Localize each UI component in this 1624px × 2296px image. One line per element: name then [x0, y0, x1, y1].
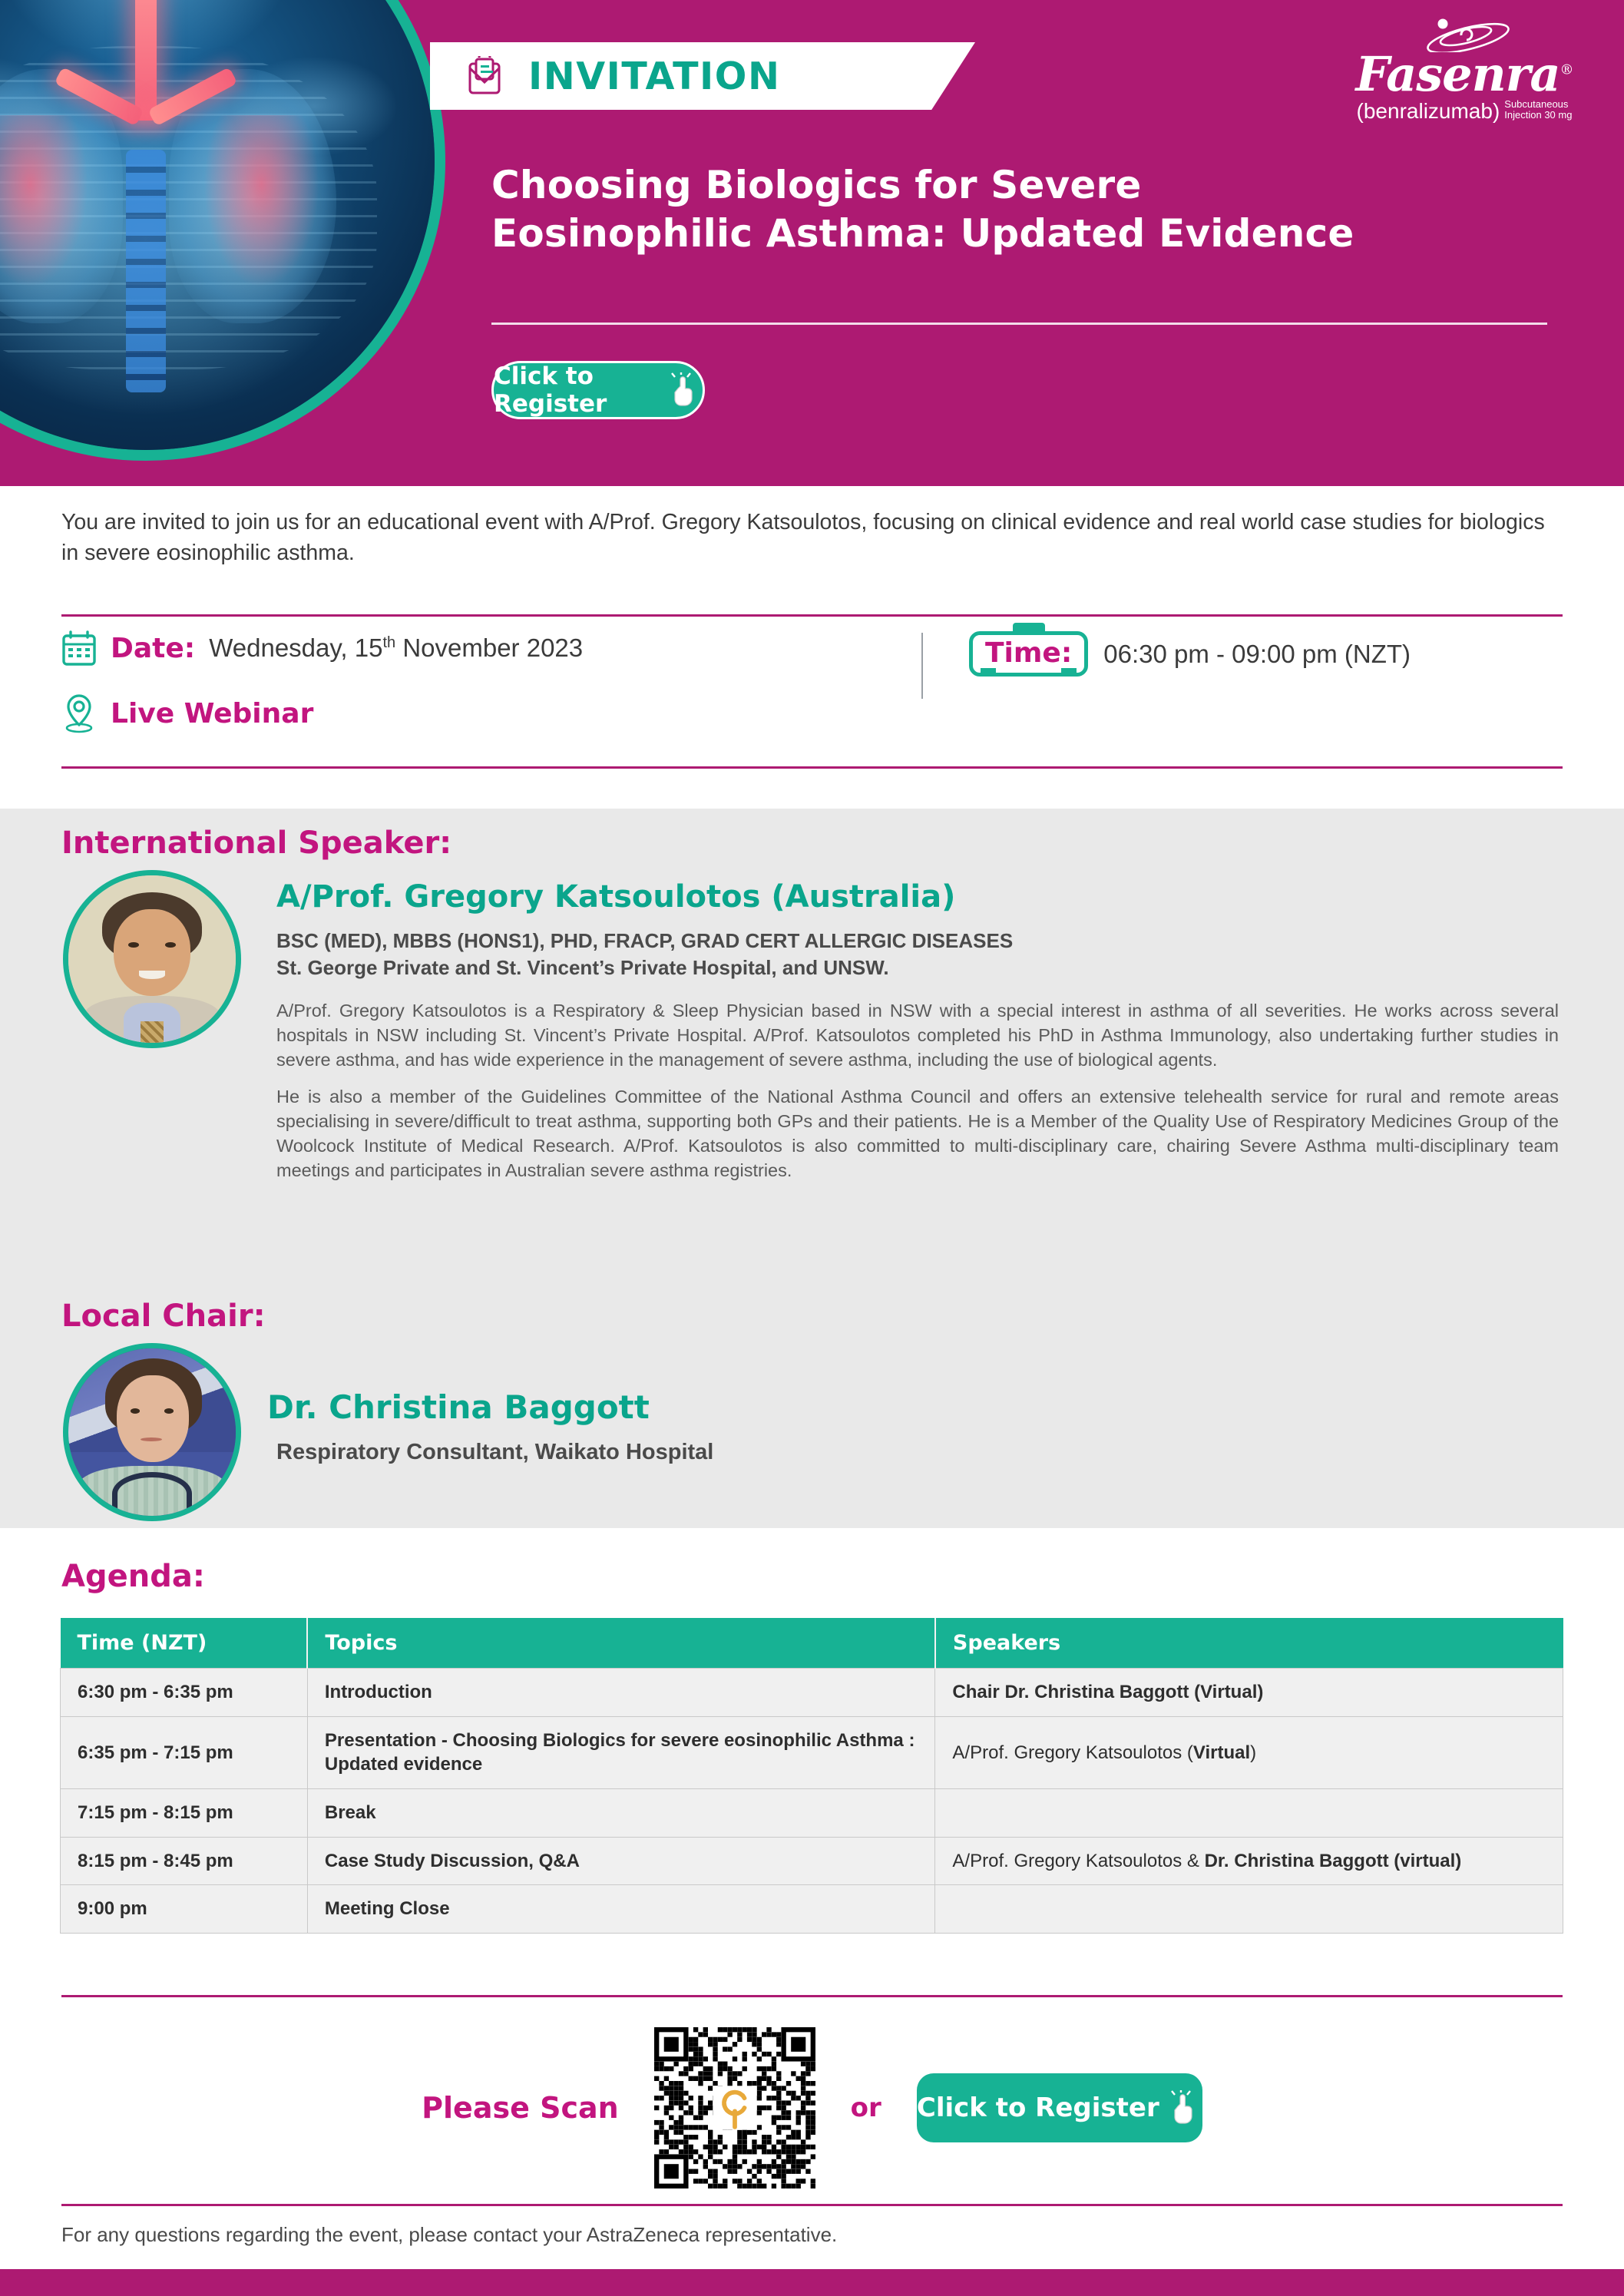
divider-bottom	[61, 766, 1563, 769]
page-title: Choosing Biologics for Severe Eosinophil…	[491, 161, 1559, 258]
international-speaker-heading: International Speaker:	[61, 825, 451, 861]
cell-speaker: A/Prof. Gregory Katsoulotos & Dr. Christ…	[935, 1837, 1563, 1885]
invitation-flyer: INVITATION Fasenra® (benralizumab) Subcu…	[0, 0, 1624, 2296]
speaker-credentials: BSC (MED), MBBS (HONS1), PHD, FRACP, GRA…	[276, 928, 1013, 981]
qr-code[interactable]	[654, 2027, 815, 2188]
time-label: Time:	[985, 637, 1072, 669]
invitation-ribbon: INVITATION	[430, 42, 975, 110]
click-hand-icon	[1170, 2090, 1202, 2126]
date-label: Date:	[111, 633, 195, 664]
cell-speaker: Chair Dr. Christina Baggott (Virtual)	[935, 1669, 1563, 1717]
table-row: 9:00 pm Meeting Close	[61, 1885, 1563, 1934]
register-button-top-label: Click to Register	[494, 362, 663, 418]
cell-topic: Break	[307, 1789, 935, 1838]
time-value: 06:30 pm - 09:00 pm (NZT)	[1103, 640, 1411, 669]
registration-row: Please Scan or Click to Register	[61, 2020, 1563, 2196]
speaker-bio: A/Prof. Gregory Katsoulotos is a Respira…	[276, 999, 1559, 1183]
respiratory-system-illustration	[0, 0, 445, 461]
details-divider	[921, 633, 923, 699]
divider-top	[61, 614, 1563, 617]
title-divider	[491, 323, 1547, 325]
table-row: 6:30 pm - 6:35 pm Introduction Chair Dr.…	[61, 1669, 1563, 1717]
cell-speaker	[935, 1885, 1563, 1934]
invitation-label: INVITATION	[528, 55, 780, 98]
date-value: Wednesday, 15th November 2023	[209, 634, 583, 663]
fasenra-generic-name: (benralizumab)	[1357, 99, 1500, 124]
divider-scan-top	[61, 1995, 1563, 1997]
divider-footer	[61, 2204, 1563, 2206]
chair-role: Respiratory Consultant, Waikato Hospital	[276, 1440, 713, 1465]
register-button-top[interactable]: Click to Register	[491, 361, 705, 419]
cell-time: 7:15 pm - 8:15 pm	[61, 1789, 308, 1838]
speaker-name: A/Prof. Gregory Katsoulotos (Australia)	[276, 879, 955, 915]
chair-name: Dr. Christina Baggott	[267, 1388, 650, 1426]
event-details: Date: Wednesday, 15th November 2023 Live…	[61, 630, 1566, 734]
cell-time: 6:30 pm - 6:35 pm	[61, 1669, 308, 1717]
footer-note: For any questions regarding the event, p…	[61, 2223, 837, 2247]
table-row: 6:35 pm - 7:15 pm Presentation - Choosin…	[61, 1716, 1563, 1788]
cell-time: 6:35 pm - 7:15 pm	[61, 1716, 308, 1788]
or-label: or	[851, 2093, 881, 2123]
cell-topic: Case Study Discussion, Q&A	[307, 1837, 935, 1885]
date-row: Date: Wednesday, 15th November 2023	[61, 630, 921, 667]
open-envelope-icon	[464, 56, 505, 96]
column-header-topics: Topics	[307, 1618, 935, 1669]
speakers-panel: International Speaker: A/Prof. Gregory K…	[0, 809, 1624, 1528]
fasenra-logo: Fasenra® (benralizumab) Subcutaneous Inj…	[1341, 17, 1587, 124]
cell-topic: Introduction	[307, 1669, 935, 1717]
column-header-speakers: Speakers	[935, 1618, 1563, 1669]
calendar-icon	[61, 630, 97, 667]
cell-topic: Meeting Close	[307, 1885, 935, 1934]
time-row: Time: 06:30 pm - 09:00 pm (NZT)	[969, 630, 1411, 677]
cell-speaker: A/Prof. Gregory Katsoulotos (Virtual)	[935, 1716, 1563, 1788]
cell-speaker	[935, 1789, 1563, 1838]
alarm-clock-icon: Time:	[969, 631, 1088, 677]
table-row: 7:15 pm - 8:15 pm Break	[61, 1789, 1563, 1838]
cell-topic: Presentation - Choosing Biologics for se…	[307, 1716, 935, 1788]
table-header-row: Time (NZT) Topics Speakers	[61, 1618, 1563, 1669]
chair-portrait	[63, 1343, 241, 1521]
fasenra-wordmark: Fasenra®	[1355, 52, 1573, 98]
footer-bar	[0, 2269, 1624, 2296]
location-label: Live Webinar	[111, 698, 313, 729]
cell-time: 8:15 pm - 8:45 pm	[61, 1837, 308, 1885]
intro-text: You are invited to join us for an educat…	[61, 507, 1566, 569]
register-button-bottom-label: Click to Register	[917, 2093, 1159, 2123]
click-hand-icon	[670, 372, 703, 408]
column-header-time: Time (NZT)	[61, 1618, 308, 1669]
fasenra-route: Subcutaneous Injection 30 mg	[1504, 99, 1572, 124]
speaker-portrait	[63, 870, 241, 1048]
header-banner: INVITATION Fasenra® (benralizumab) Subcu…	[0, 0, 1624, 486]
cell-time: 9:00 pm	[61, 1885, 308, 1934]
please-scan-label: Please Scan	[422, 2091, 619, 2125]
agenda-table: Time (NZT) Topics Speakers 6:30 pm - 6:3…	[60, 1618, 1563, 1934]
table-row: 8:15 pm - 8:45 pm Case Study Discussion,…	[61, 1837, 1563, 1885]
register-button-bottom[interactable]: Click to Register	[917, 2073, 1202, 2142]
local-chair-heading: Local Chair:	[61, 1299, 266, 1334]
location-row: Live Webinar	[61, 693, 921, 734]
map-pin-icon	[61, 693, 97, 734]
agenda-heading: Agenda:	[61, 1559, 205, 1594]
